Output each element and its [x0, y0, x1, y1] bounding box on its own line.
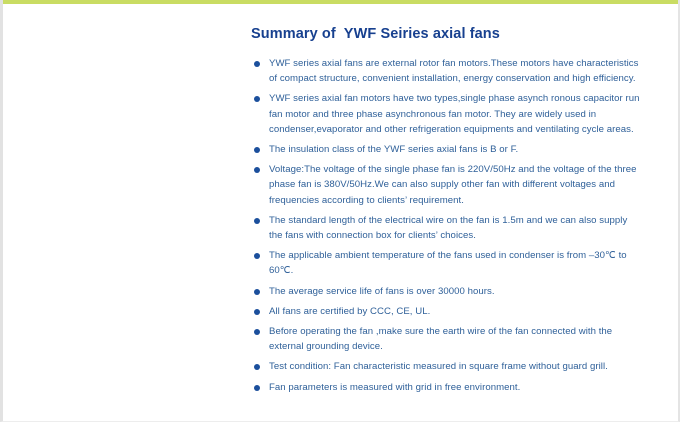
summary-bullet-list: YWF series axial fans are external rotor… — [251, 56, 643, 395]
list-item: YWF series axial fan motors have two typ… — [251, 91, 643, 137]
bullet-dot-icon — [254, 147, 260, 153]
list-item: YWF series axial fans are external rotor… — [251, 56, 643, 86]
list-item: The average service life of fans is over… — [251, 284, 643, 299]
list-item-text: YWF series axial fan motors have two typ… — [269, 91, 643, 137]
list-item-text: The insulation class of the YWF series a… — [269, 142, 643, 157]
bullet-dot-icon — [254, 167, 260, 173]
list-item: All fans are certified by CCC, CE, UL. — [251, 304, 643, 319]
list-item-text: The applicable ambient temperature of th… — [269, 248, 643, 278]
bullet-dot-icon — [254, 218, 260, 224]
document-content: Summary of YWF Seiries axial fans YWF se… — [251, 26, 643, 400]
list-item-text: Voltage:The voltage of the single phase … — [269, 162, 643, 208]
list-item-text: YWF series axial fans are external rotor… — [269, 56, 643, 86]
list-item: Before operating the fan ,make sure the … — [251, 324, 643, 354]
list-item-text: Test condition: Fan characteristic measu… — [269, 359, 643, 374]
top-accent-bar — [3, 0, 678, 4]
list-item-text: Before operating the fan ,make sure the … — [269, 324, 643, 354]
bullet-dot-icon — [254, 309, 260, 315]
bullet-dot-icon — [254, 364, 260, 370]
document-page: Summary of YWF Seiries axial fans YWF se… — [0, 0, 680, 422]
list-item-text: The standard length of the electrical wi… — [269, 213, 643, 243]
bullet-dot-icon — [254, 329, 260, 335]
bullet-dot-icon — [254, 385, 260, 391]
list-item-text: Fan parameters is measured with grid in … — [269, 380, 643, 395]
list-item: Voltage:The voltage of the single phase … — [251, 162, 643, 208]
list-item-text: The average service life of fans is over… — [269, 284, 643, 299]
bullet-dot-icon — [254, 253, 260, 259]
list-item: The applicable ambient temperature of th… — [251, 248, 643, 278]
bullet-dot-icon — [254, 61, 260, 67]
list-item: The insulation class of the YWF series a… — [251, 142, 643, 157]
bullet-dot-icon — [254, 96, 260, 102]
list-item-text: All fans are certified by CCC, CE, UL. — [269, 304, 643, 319]
list-item: The standard length of the electrical wi… — [251, 213, 643, 243]
bullet-dot-icon — [254, 289, 260, 295]
list-item: Test condition: Fan characteristic measu… — [251, 359, 643, 374]
list-item: Fan parameters is measured with grid in … — [251, 380, 643, 395]
page-title: Summary of YWF Seiries axial fans — [251, 26, 643, 42]
